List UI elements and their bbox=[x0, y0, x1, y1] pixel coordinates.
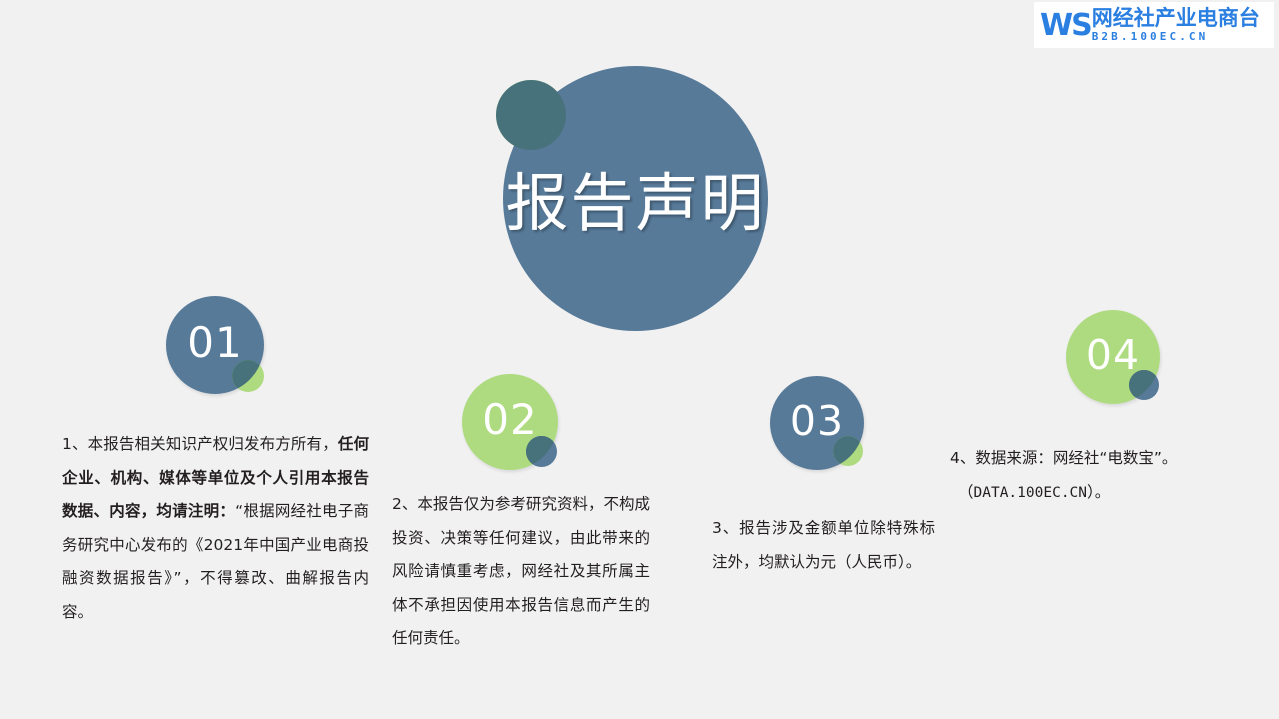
logo-name-en: B2B.100EC.CN bbox=[1092, 31, 1260, 42]
item-bubble-02: 02 bbox=[462, 374, 560, 472]
item-paragraph-04-paren-open: （ bbox=[958, 483, 974, 501]
item-paragraph-01: 1、本报告相关知识产权归发布方所有，任何企业、机构、媒体等单位及个人引用本报告数… bbox=[62, 428, 369, 629]
item-paragraph-04-line2: （DATA.100EC.CN）。 bbox=[950, 476, 1250, 511]
item-bubble-04: 04 bbox=[1066, 310, 1162, 406]
item-bubble-03: 03 bbox=[770, 376, 866, 472]
logo-text-group: 网经社产业电商台 B2B.100EC.CN bbox=[1092, 8, 1260, 42]
logo-name-cn: 网经社产业电商台 bbox=[1092, 8, 1260, 29]
item-number-04: 04 bbox=[1086, 335, 1140, 376]
slide-canvas: WS 网经社产业电商台 B2B.100EC.CN 报告声明 01 1、本报告相关… bbox=[0, 0, 1279, 719]
item-paragraph-02: 2、本报告仅为参考研究资料，不构成投资、决策等任何建议，由此带来的风险请慎重考虑… bbox=[392, 488, 650, 656]
item-paragraph-04: 4、数据来源：网经社“电数宝”。 （DATA.100EC.CN）。 bbox=[950, 442, 1250, 510]
item-paragraph-01-lead: 1、本报告相关知识产权归发布方所有， bbox=[62, 435, 338, 453]
item-paragraph-03: 3、报告涉及金额单位除特殊标注外，均默认为元（人民币）。 bbox=[712, 512, 935, 579]
page-title: 报告声明 bbox=[503, 66, 768, 331]
item-bubble-01: 01 bbox=[166, 296, 266, 396]
item-paragraph-04-url: DATA.100EC.CN bbox=[974, 485, 1088, 501]
brand-logo: WS 网经社产业电商台 B2B.100EC.CN bbox=[1034, 2, 1274, 48]
item-paragraph-04-paren-close: ）。 bbox=[1087, 483, 1110, 501]
item-number-03: 03 bbox=[790, 401, 844, 442]
item-number-02: 02 bbox=[482, 399, 537, 441]
item-paragraph-04-line1: 4、数据来源：网经社“电数宝”。 bbox=[950, 442, 1250, 476]
logo-mark-ws: WS bbox=[1040, 11, 1091, 41]
item-number-01: 01 bbox=[187, 322, 242, 364]
